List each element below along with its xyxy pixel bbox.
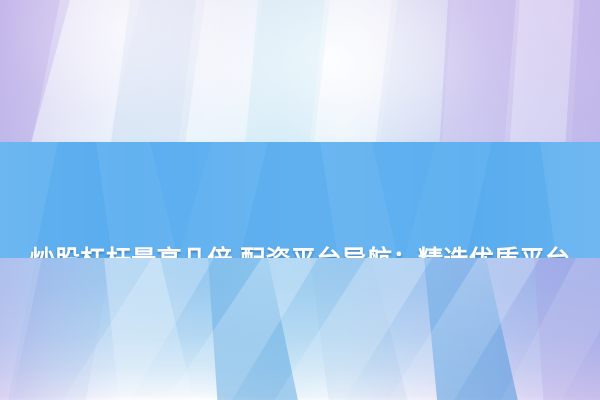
banner-headline-line-1: 炒股杠杆最高几倍 配资平台导航：精选优质平台 — [18, 240, 582, 258]
banner-headline: 炒股杠杆最高几倍 配资平台导航：精选优质平台 ，助您投资无忧 — [18, 158, 582, 258]
headline-banner: 炒股杠杆最高几倍 配资平台导航：精选优质平台 ，助您投资无忧 — [0, 142, 600, 258]
banner-image: 炒股杠杆最高几倍 配资平台导航：精选优质平台 ，助您投资无忧 — [0, 0, 600, 400]
